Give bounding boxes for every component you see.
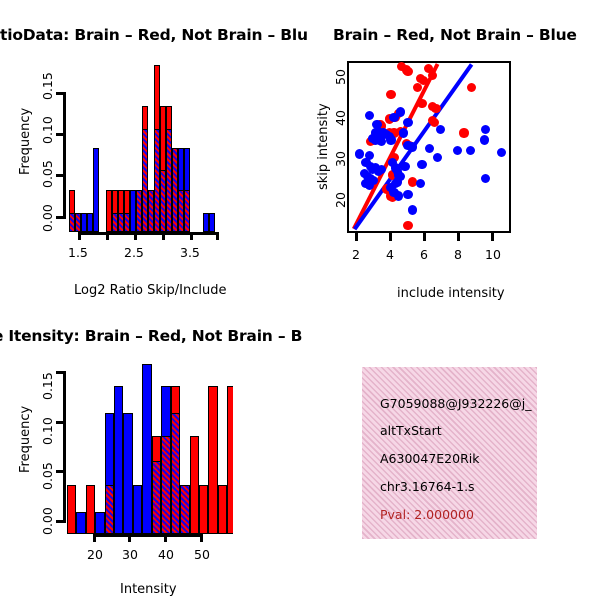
hist-ratio-xtick-mark-3 (162, 232, 165, 240)
hist-ratio-xtick-mark-4 (190, 232, 193, 240)
histogram-bar-overlap (184, 190, 190, 232)
panel-info: G7059088@J932226@j_ altTxStart A630047E2… (300, 310, 600, 600)
scatter-point (417, 160, 426, 169)
hist-intensity-xlabel: Intensity (120, 582, 177, 597)
hist-intensity-title: ne Itensity: Brain – Red, Not Brain – B (0, 327, 302, 345)
scatter-title: Brain – Red, Not Brain – Blue (333, 26, 577, 44)
scatter-point (497, 148, 506, 157)
histogram-bar (67, 485, 76, 534)
hist-intensity-ytick-0: 0.00 (40, 507, 55, 535)
hist-ratio-ytick-3: 0.15 (40, 72, 55, 100)
scatter-plot-area (347, 61, 511, 233)
scatter-xtick-4: 10 (485, 247, 501, 262)
hist-intensity-xtick-mark-1 (128, 534, 131, 542)
scatter-point (436, 125, 445, 134)
info-line-locus: chr3.16764-1.s (380, 479, 475, 494)
histogram-bar (123, 413, 132, 534)
histogram-bar-overlap (105, 485, 114, 534)
info-panel-box: G7059088@J932226@j_ altTxStart A630047E2… (362, 367, 537, 539)
scatter-point (459, 128, 468, 137)
histogram-bar (209, 213, 215, 232)
scatter-point (467, 83, 476, 92)
scatter-point (416, 179, 425, 188)
scatter-ylabel: skip intensity (316, 103, 331, 190)
scatter-xtick-3: 8 (454, 247, 462, 262)
panel-hist-intensity: ne Itensity: Brain – Red, Not Brain – B … (0, 310, 300, 600)
histogram-bar-overlap (180, 485, 189, 534)
hist-intensity-plot-area (63, 355, 233, 534)
hist-intensity-ytick-2: 0.10 (40, 417, 55, 445)
hist-ratio-xtick-2: 2.5 (124, 245, 144, 260)
info-line-gene: A630047E20Rik (380, 451, 479, 466)
histogram-bar (142, 364, 151, 534)
scatter-point (403, 190, 412, 199)
histogram-bar (114, 386, 123, 534)
scatter-xtick-mark-4 (491, 233, 494, 241)
scatter-point (431, 104, 440, 113)
histogram-bar (76, 512, 85, 534)
scatter-point (433, 153, 442, 162)
scatter-point (394, 191, 403, 200)
scatter-ytick-3: 50 (333, 69, 348, 85)
scatter-point (408, 142, 417, 151)
scatter-ytick-0: 20 (333, 192, 348, 208)
scatter-point (417, 99, 426, 108)
scatter-point (408, 205, 417, 214)
scatter-point (403, 221, 412, 230)
histogram-bar-overlap (152, 461, 161, 534)
scatter-point (425, 144, 434, 153)
scatter-xlabel: include intensity (397, 286, 505, 301)
histogram-bar (208, 386, 217, 534)
scatter-point (403, 67, 412, 76)
scatter-xtick-0: 2 (352, 247, 360, 262)
hist-intensity-xtick-2: 40 (158, 547, 174, 562)
scatter-ytick-1: 30 (333, 151, 348, 167)
hist-ratio-ytick-1: 0.05 (40, 160, 55, 188)
hist-ratio-ylabel: Frequency (18, 108, 33, 175)
scatter-point (428, 71, 437, 80)
hist-ratio-xtick-mark-0 (78, 232, 81, 240)
info-line-id: G7059088@J932226@j_ (380, 396, 531, 411)
panel-hist-ratio: RatioData: Brain – Red, Not Brain – Blu … (0, 0, 300, 310)
hist-ratio-plot-area (63, 60, 233, 232)
histogram-bar (133, 485, 142, 534)
histogram-bar (93, 148, 99, 232)
hist-intensity-ytick-1: 0.05 (40, 462, 55, 490)
histogram-bar-overlap (161, 436, 170, 534)
scatter-xtick-mark-1 (389, 233, 392, 241)
hist-ratio-ytick-0: 0.00 (40, 204, 55, 232)
hist-ratio-xtick-0: 1.5 (68, 245, 88, 260)
scatter-point (466, 146, 475, 155)
histogram-bar (95, 512, 104, 534)
scatter-point (413, 83, 422, 92)
scatter-ytick-2: 40 (333, 110, 348, 126)
scatter-xtick-1: 4 (386, 247, 394, 262)
hist-intensity-xtick-mark-2 (164, 534, 167, 542)
hist-ratio-xaxis (78, 232, 219, 235)
hist-intensity-xtick-3: 50 (194, 547, 210, 562)
scatter-xtick-mark-2 (423, 233, 426, 241)
hist-intensity-ytick-3: 0.15 (40, 372, 55, 400)
histogram-bar (190, 436, 199, 534)
scatter-point (377, 137, 386, 146)
scatter-point (480, 135, 489, 144)
histogram-bar (227, 386, 233, 534)
hist-intensity-xtick-mark-0 (93, 534, 96, 542)
histogram-bar (218, 485, 227, 534)
scatter-point (389, 113, 398, 122)
scatter-point (386, 135, 395, 144)
info-line-event: altTxStart (380, 423, 442, 438)
hist-intensity-xtick-mark-3 (200, 534, 203, 542)
hist-ratio-xlabel: Log2 Ratio Skip/Include (74, 283, 226, 298)
scatter-point (400, 162, 409, 171)
hist-ratio-xtick-mark-1 (106, 232, 109, 240)
panel-scatter: Brain – Red, Not Brain – Blue skip inten… (300, 0, 600, 310)
scatter-point (365, 181, 374, 190)
hist-ratio-title: RatioData: Brain – Red, Not Brain – Blu (0, 26, 308, 44)
scatter-point (403, 118, 412, 127)
histogram-bar (199, 485, 208, 534)
scatter-xtick-mark-0 (355, 233, 358, 241)
hist-intensity-ylabel: Frequency (18, 406, 33, 473)
scatter-point (481, 174, 490, 183)
info-line-pval: Pval: 2.000000 (380, 507, 474, 522)
histogram-bar-overlap (171, 413, 180, 534)
scatter-point (365, 111, 374, 120)
hist-ratio-ytick-2: 0.10 (40, 116, 55, 144)
scatter-point (377, 165, 386, 174)
hist-ratio-xtick-4: 3.5 (180, 245, 200, 260)
scatter-xtick-2: 6 (420, 247, 428, 262)
scatter-point (481, 125, 490, 134)
scatter-point (386, 90, 395, 99)
histogram-bar (86, 485, 95, 534)
scatter-point (355, 149, 364, 158)
hist-intensity-xaxis (93, 534, 203, 537)
figure-canvas: RatioData: Brain – Red, Not Brain – Blu … (0, 0, 600, 600)
scatter-point (453, 146, 462, 155)
hist-ratio-xtick-mark-5 (216, 232, 219, 240)
scatter-point (399, 128, 408, 137)
hist-intensity-xtick-1: 30 (122, 547, 138, 562)
hist-ratio-xtick-mark-2 (134, 232, 137, 240)
hist-intensity-xtick-0: 20 (87, 547, 103, 562)
scatter-xtick-mark-3 (457, 233, 460, 241)
